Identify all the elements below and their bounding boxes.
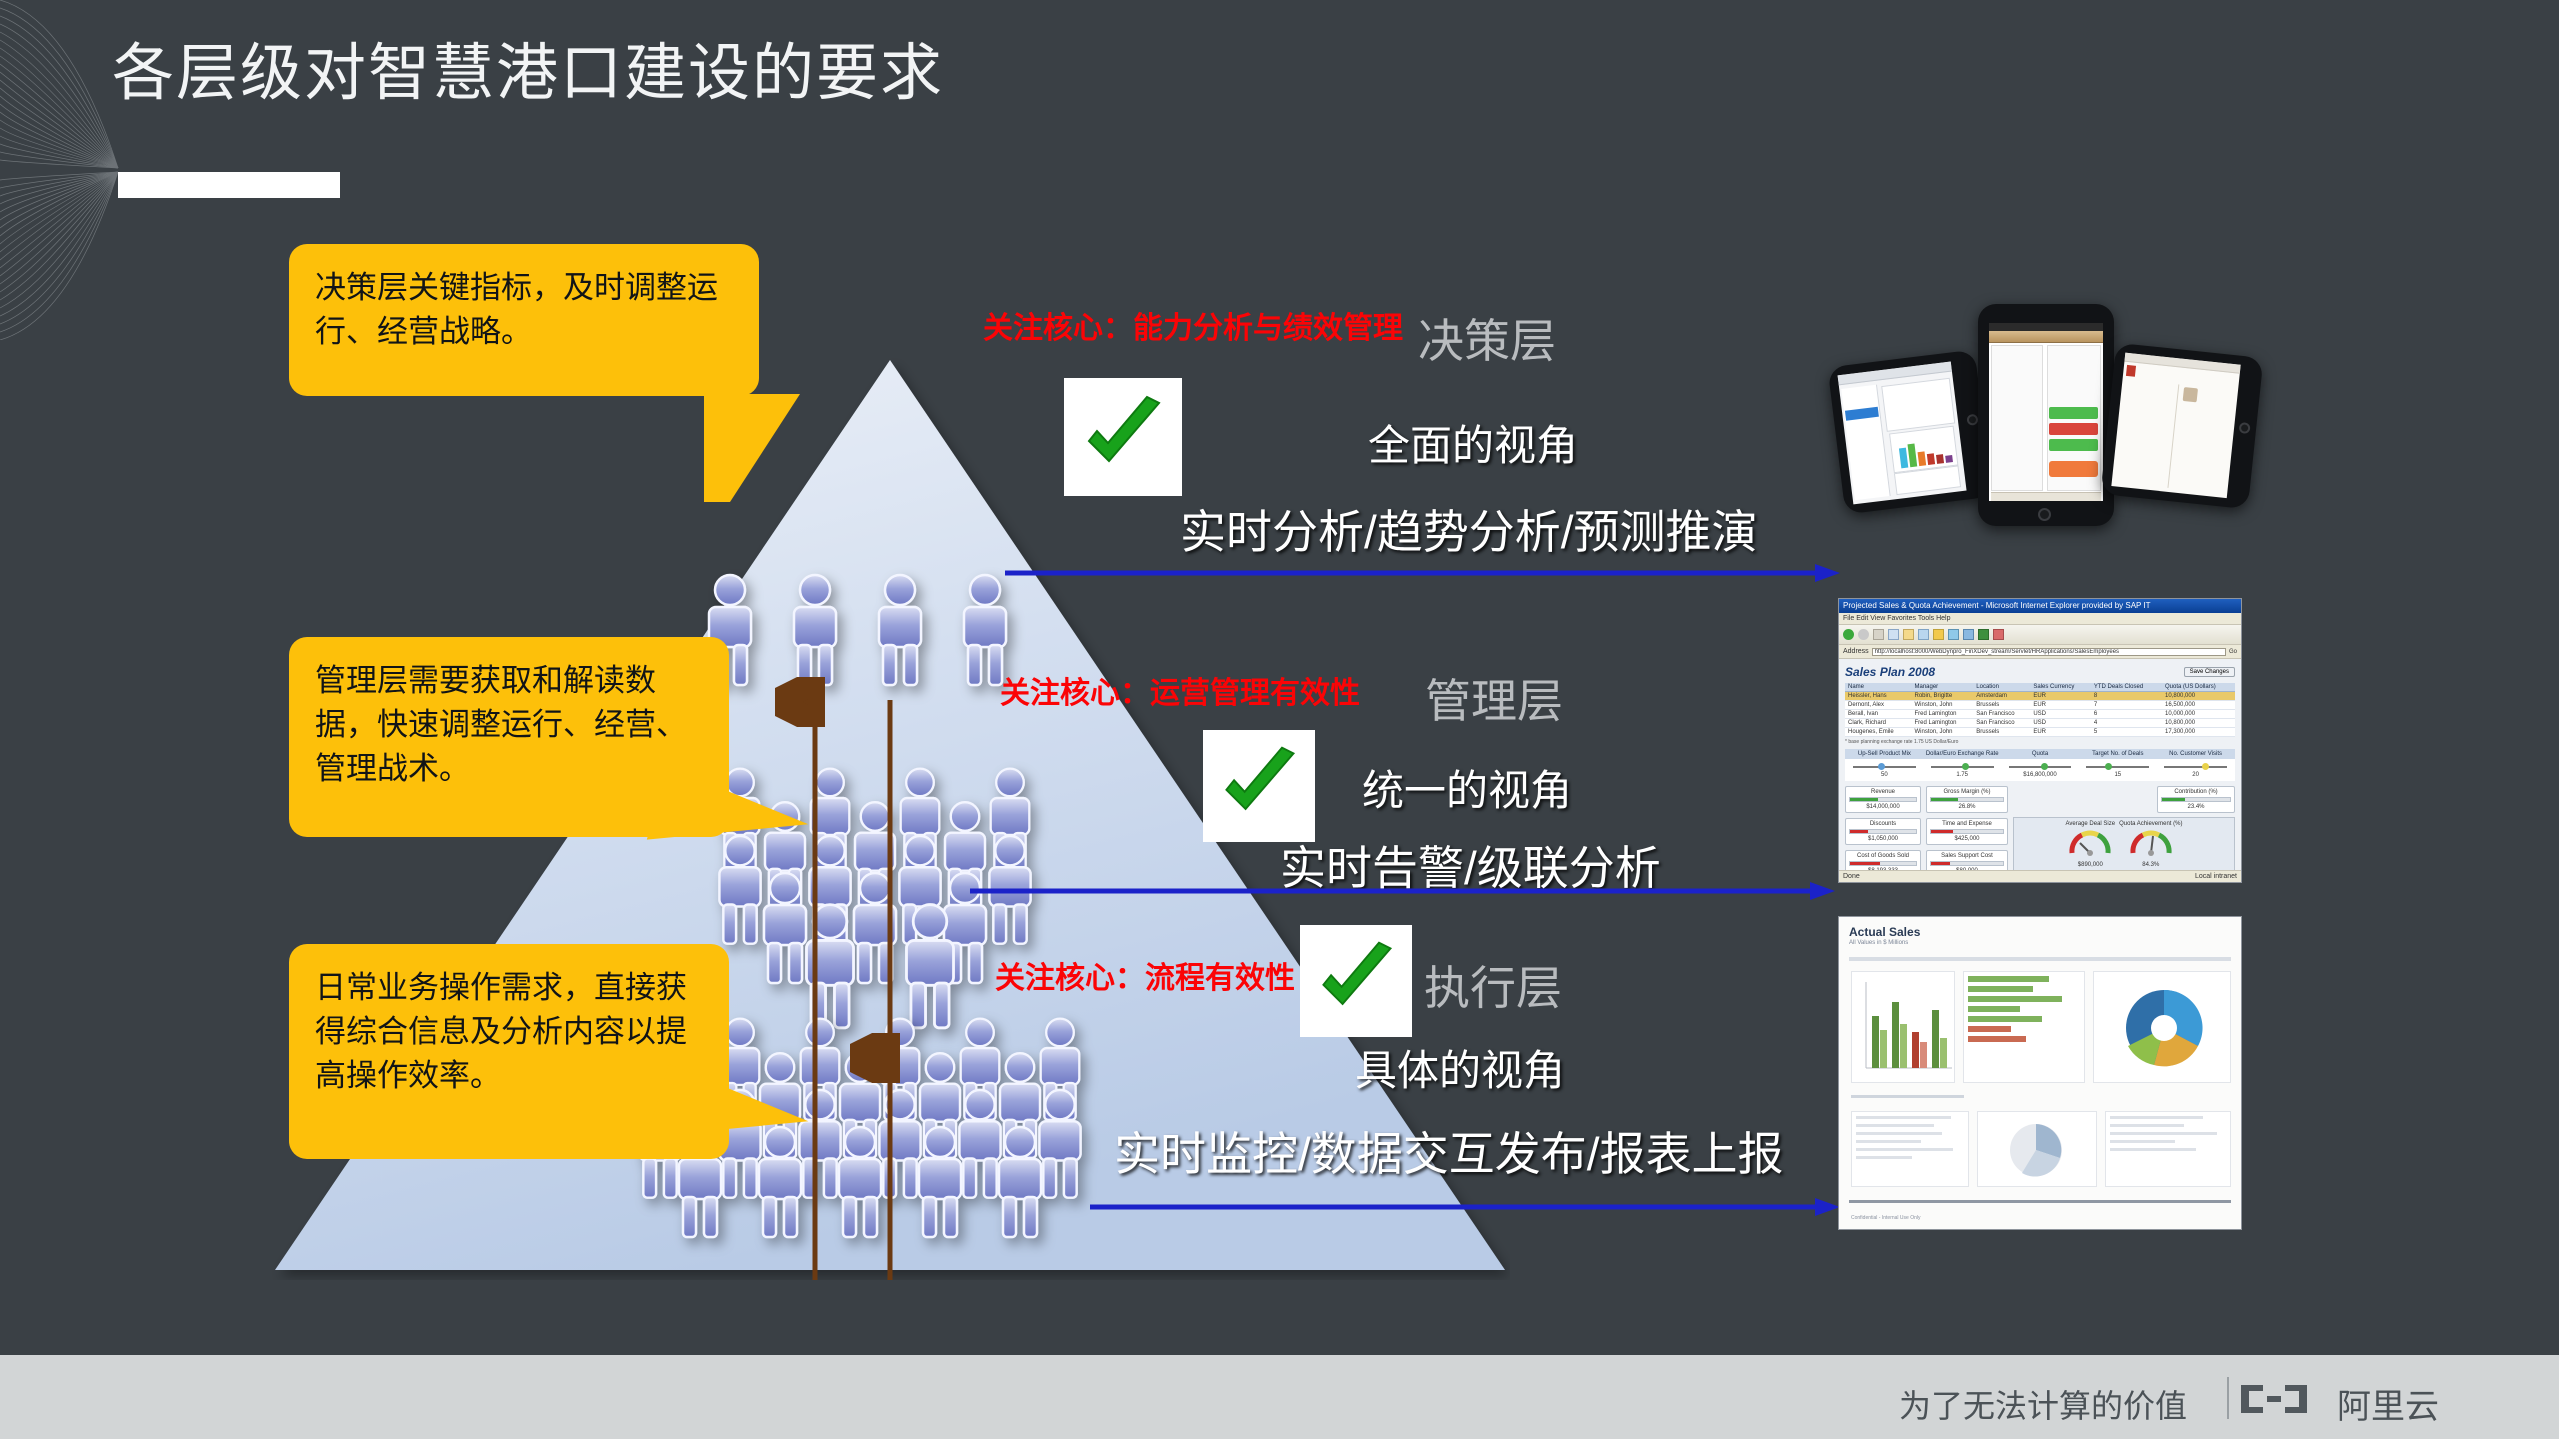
col-name: Name (1845, 683, 1912, 692)
cell-quota: 17,300,000 (2162, 728, 2235, 737)
col-manager: Manager (1912, 683, 1974, 692)
cell-quota: 10,800,000 (2162, 719, 2235, 728)
actual-sales-screenshot: Actual Sales All Values in $ Millions (1838, 916, 2242, 1230)
cell-manager: Fred Lamington (1912, 719, 1974, 728)
cell-currency: USD (2030, 710, 2090, 719)
slide-footer: 为了无法计算的价值 阿里云 (0, 1355, 2559, 1439)
cell-manager: Robin, Brigitte (1912, 692, 1974, 701)
sales-plan-menubar: File Edit View Favorites Tools Help (1839, 613, 2241, 625)
cell-manager: Winston, John (1912, 728, 1974, 737)
table-row[interactable]: Heissler, Hans Robin, Brigitte Amsterdam… (1845, 692, 2235, 701)
slider-control[interactable]: 50 (1847, 762, 1922, 778)
slider-value: 20 (2158, 772, 2233, 778)
footer-brand: 阿里云 (2337, 1379, 2439, 1428)
forward-icon[interactable] (1858, 629, 1869, 640)
slider-value: $16,800,000 (2003, 772, 2078, 778)
cell-currency: EUR (2030, 728, 2090, 737)
ipad-trio-image (1830, 290, 2260, 545)
detail-text-decision: 实时分析/趋势分析/预测推演 (1180, 496, 1758, 562)
kpi-discounts: Discounts $1,050,000 (1845, 818, 1921, 845)
check-badge-execution (1300, 925, 1412, 1037)
cell-currency: EUR (2030, 701, 2090, 710)
kpi-label: Discounts (1849, 821, 1917, 827)
gauge-icon (2068, 827, 2112, 857)
table-row[interactable]: Dernont, Alex Winston, John Brussels EUR… (1845, 701, 2235, 710)
cell-name: Heissler, Hans (1845, 692, 1912, 701)
sales-plan-addressbar[interactable]: Address http://localhost:8000/WebDynpro_… (1839, 645, 2241, 659)
actual-sales-subheading: All Values in $ Millions (1849, 940, 2231, 946)
cell-location: Brussels (1973, 701, 2030, 710)
kpi-label: Revenue (1849, 789, 1917, 795)
actual-sales-pie-chart (2093, 971, 2231, 1083)
callout-execution: 日常业务操作需求，直接获得综合信息及分析内容以提高操作效率。 (289, 944, 729, 1159)
address-label: Address (1843, 648, 1869, 655)
sales-plan-screenshot: Projected Sales & Quota Achievement - Mi… (1838, 598, 2242, 883)
callout-decision-text: 决策层关键指标，及时调整运行、经营战略。 (315, 270, 718, 349)
cell-location: San Francisco (1973, 710, 2030, 719)
decorative-fan-pattern (0, 0, 120, 340)
address-input[interactable]: http://localhost:8000/WebDynpro_FinXDev_… (1872, 648, 2226, 656)
print-icon[interactable] (1978, 629, 1989, 640)
search-icon[interactable] (1918, 629, 1929, 640)
slider-label: Dollar/Euro Exchange Rate (1925, 751, 2000, 757)
history-icon[interactable] (1948, 629, 1959, 640)
slide-canvas: 各层级对智慧港口建设的要求 (0, 0, 2559, 1439)
slider-label: Quota (2003, 751, 2078, 757)
detail-text-execution: 实时监控/数据交互发布/报表上报 (1114, 1118, 1784, 1184)
ipad-center (1978, 304, 2114, 526)
slider-label: Up-Sell Product Mix (1847, 751, 1922, 757)
gauge-quota-achievement: Quota Achievement (%) 84.3% (2119, 821, 2182, 868)
slider-value: 50 (1847, 772, 1922, 778)
gauge-icon (2129, 827, 2173, 857)
kpi-label: Gross Margin (%) (1930, 789, 2004, 795)
page-title: 各层级对智慧港口建设的要求 (112, 22, 944, 112)
focus-text-execution: 关注核心：流程有效性 (995, 953, 1295, 997)
slider-value: 1.75 (1925, 772, 2000, 778)
col-location: Location (1973, 683, 2030, 692)
green-check-icon (1310, 935, 1402, 1027)
footer-divider (2227, 1377, 2229, 1419)
back-icon[interactable] (1843, 629, 1854, 640)
ipad-right (2100, 343, 2263, 510)
ipad-left-screen (1838, 362, 1967, 505)
cell-ytd: 4 (2091, 719, 2162, 728)
slider-label: Target No. of Deals (2080, 751, 2155, 757)
blue-arrow-decision (1005, 562, 1840, 584)
check-badge-management (1203, 730, 1315, 842)
ipad-center-home-button (2038, 508, 2051, 521)
callout-execution-text: 日常业务操作需求，直接获得综合信息及分析内容以提高操作效率。 (315, 970, 687, 1093)
status-text: Done (1843, 873, 1860, 880)
focus-text-decision: 关注核心：能力分析与绩效管理 (983, 303, 1403, 347)
mail-icon[interactable] (1963, 629, 1974, 640)
refresh-icon[interactable] (1888, 629, 1899, 640)
home-icon[interactable] (1903, 629, 1914, 640)
title-underline (118, 172, 340, 198)
cell-ytd: 7 (2091, 701, 2162, 710)
blue-arrow-management (970, 880, 1835, 902)
kpi-value: $425,000 (1930, 836, 2004, 842)
kpi-gross-margin: Gross Margin (%) 26.8% (1926, 786, 2008, 813)
cell-manager: Winston, John (1912, 701, 1974, 710)
table-row[interactable]: Hougenes, Emile Winston, John Brussels E… (1845, 728, 2235, 737)
cell-location: Amsterdam (1973, 692, 2030, 701)
focus-text-management: 关注核心：运营管理有效性 (1000, 668, 1360, 712)
check-badge-decision (1064, 378, 1182, 496)
ipad-left (1828, 350, 1993, 515)
slider-value: 15 (2080, 772, 2155, 778)
callout-management-text: 管理层需要获取和解读数据，快速调整运行、经营、管理战术。 (315, 663, 687, 786)
actual-sales-detail-middle (1977, 1111, 2097, 1187)
green-check-icon (1213, 740, 1305, 832)
view-text-decision: 全面的视角 (1368, 412, 1578, 473)
sales-plan-page-body: Sales Plan 2008 Save Changes Name Manage… (1839, 659, 2241, 882)
go-button[interactable]: Go (2229, 649, 2237, 655)
kpi-contribution: Contribution (%) 23.4% (2157, 786, 2235, 813)
sales-plan-statusbar: Done Local intranet (1839, 870, 2241, 882)
kpi-label: Time and Expense (1930, 821, 2004, 827)
favorites-icon[interactable] (1933, 629, 1944, 640)
sales-plan-toolbar (1839, 625, 2241, 645)
sales-plan-window-title: Projected Sales & Quota Achievement - Mi… (1839, 599, 2241, 613)
table-row[interactable]: Berall, Ivan Fred Lamington San Francisc… (1845, 710, 2235, 719)
blue-arrow-execution (1090, 1196, 1840, 1218)
layer-name-execution: 执行层 (1424, 952, 1562, 1018)
gauge-value: 84.3% (2119, 862, 2182, 868)
kpi-value: $14,000,000 (1849, 804, 1917, 810)
view-text-execution: 具体的视角 (1355, 1037, 1565, 1098)
cell-ytd: 6 (2091, 710, 2162, 719)
view-text-management: 统一的视角 (1362, 757, 1572, 818)
cell-name: Clark, Richard (1845, 719, 1912, 728)
callout-management: 管理层需要获取和解读数据，快速调整运行、经营、管理战术。 (289, 637, 729, 837)
cell-currency: EUR (2030, 692, 2090, 701)
cell-name: Hougenes, Emile (1845, 728, 1912, 737)
security-zone: Local intranet (2195, 871, 2241, 883)
ipad-right-home-button (2239, 422, 2251, 434)
ipad-center-screen (1989, 323, 2103, 501)
kpi-value: 23.4% (2161, 804, 2231, 810)
cell-quota: 10,000,000 (2162, 710, 2235, 719)
ipad-right-screen (2111, 353, 2240, 498)
kpi-value: $1,050,000 (1849, 836, 1917, 842)
cell-quota: 16,500,000 (2162, 701, 2235, 710)
gauge-average-deal-size: Average Deal Size $890,000 (2066, 821, 2116, 868)
table-header-row: Name Manager Location Sales Currency YTD… (1845, 683, 2235, 692)
slider-control[interactable]: 15 (2080, 762, 2155, 778)
cell-quota: 10,800,000 (2162, 692, 2235, 701)
alibaba-cloud-logo-icon (2237, 1379, 2311, 1419)
ipad-left-home-button (1966, 414, 1978, 426)
col-currency: Sales Currency (2030, 683, 2090, 692)
actual-sales-detail-left (1851, 1111, 1969, 1187)
kpi-time-expense: Time and Expense $425,000 (1926, 818, 2008, 845)
gauge-value: $890,000 (2066, 862, 2116, 868)
footer-slogan: 为了无法计算的价值 (1899, 1381, 2187, 1427)
layer-name-management: 管理层 (1425, 665, 1563, 731)
kpi-label: Sales Support Cost (1930, 853, 2004, 859)
slider-label: No. Customer Visits (2158, 751, 2233, 757)
table-row[interactable]: Clark, Richard Fred Lamington San Franci… (1845, 719, 2235, 728)
sales-plan-footnote: * base planning exchange rate 1.75 US Do… (1845, 739, 2235, 745)
actual-sales-detail-right (2105, 1111, 2231, 1187)
sales-plan-table: Name Manager Location Sales Currency YTD… (1845, 683, 2235, 737)
actual-sales-bar-list (1963, 971, 2085, 1083)
save-changes-button[interactable]: Save Changes (2184, 667, 2235, 677)
cell-ytd: 5 (2091, 728, 2162, 737)
slider-control[interactable]: $16,800,000 (2003, 762, 2078, 778)
actual-sales-footer-note: Confidential - Internal Use Only (1851, 1215, 1920, 1221)
green-check-icon (1075, 389, 1171, 485)
col-ytd: YTD Deals Closed (2091, 683, 2162, 692)
stop-icon[interactable] (1873, 629, 1884, 640)
col-quota: Quota (US Dollars) (2162, 683, 2235, 692)
cell-manager: Fred Lamington (1912, 710, 1974, 719)
callout-decision-tail (704, 394, 800, 502)
sales-plan-heading: Sales Plan 2008 (1845, 665, 1935, 679)
slider-control[interactable]: 1.75 (1925, 762, 2000, 778)
cell-currency: USD (2030, 719, 2090, 728)
edit-icon[interactable] (1993, 629, 2004, 640)
kpi-label: Cost of Goods Sold (1849, 853, 1917, 859)
cell-ytd: 8 (2091, 692, 2162, 701)
cell-location: San Francisco (1973, 719, 2030, 728)
cell-location: Brussels (1973, 728, 2030, 737)
actual-sales-heading: Actual Sales (1849, 925, 2231, 939)
cell-name: Berall, Ivan (1845, 710, 1912, 719)
callout-decision: 决策层关键指标，及时调整运行、经营战略。 (289, 244, 759, 396)
slider-control[interactable]: 20 (2158, 762, 2233, 778)
layer-name-decision: 决策层 (1418, 305, 1556, 371)
actual-sales-bar-chart (1851, 971, 1955, 1083)
kpi-revenue: Revenue $14,000,000 (1845, 786, 1921, 813)
kpi-label: Contribution (%) (2161, 789, 2231, 795)
kpi-value: 26.8% (1930, 804, 2004, 810)
cell-name: Dernont, Alex (1845, 701, 1912, 710)
